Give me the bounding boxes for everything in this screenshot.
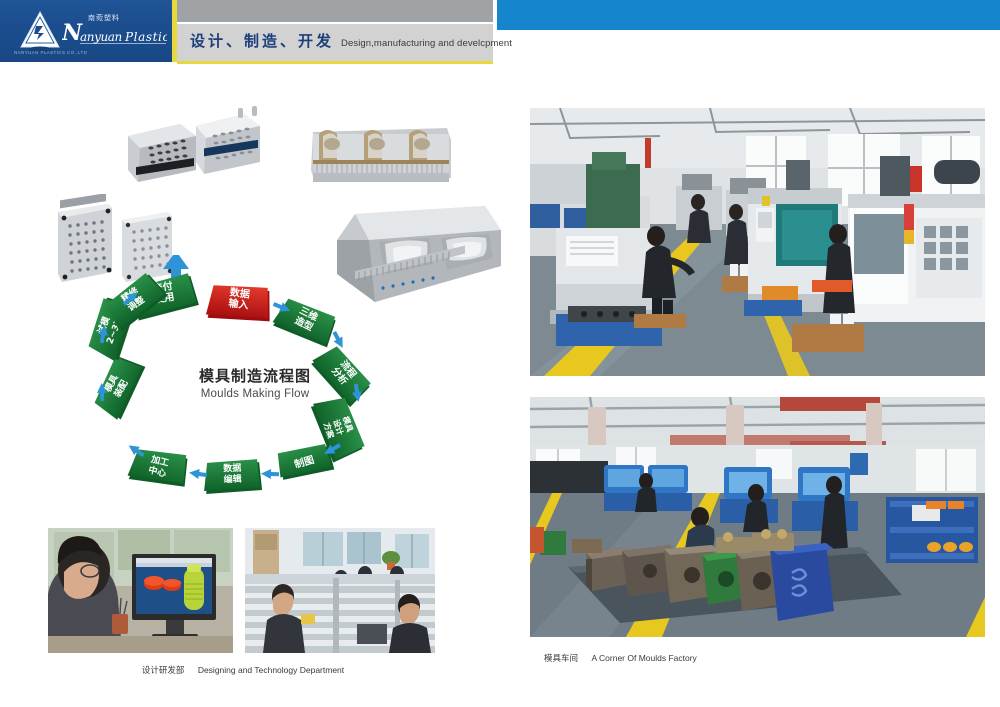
caption-design-department: 设计研发部 Designing and Technology Departmen… — [48, 660, 438, 678]
company-logo-block[interactable]: N anyuan Plastics 南菀塑料 NANYUAN PLASTICS … — [0, 0, 172, 62]
caption-factory-en: A Corner Of Moulds Factory — [591, 653, 696, 663]
photo-engineer-at-cad-workstation — [48, 528, 233, 653]
caption-moulds-factory: 模具车间 A Corner Of Moulds Factory — [544, 648, 697, 666]
product-photo-three-cavity-mould-block — [305, 120, 455, 192]
moulds-making-flow-diagram: 交付 使用 数据 输入 三维 造型 流程 分析 — [75, 255, 435, 515]
header-yellow-underline — [177, 61, 493, 64]
flow-center-title: 模具制造流程图 Moulds Making Flow — [75, 365, 435, 400]
svg-text:数据: 数据 — [223, 462, 241, 475]
flow-node-drafting[interactable]: 制图 — [274, 440, 334, 485]
caption-design-en: Designing and Technology Department — [198, 665, 344, 675]
flow-node-3d-modeling[interactable]: 三维 造型 — [271, 293, 340, 351]
header-gray-top-band — [177, 0, 493, 22]
page-header: N anyuan Plastics 南菀塑料 NANYUAN PLASTICS … — [0, 0, 1000, 62]
brand-name-cn: 南菀塑料 — [88, 13, 120, 23]
brand-subtext: NANYUAN PLASTICS CO.,LTD — [14, 50, 87, 55]
header-blue-band — [497, 0, 1000, 30]
brochure-page: N anyuan Plastics 南菀塑料 NANYUAN PLASTICS … — [0, 0, 1000, 707]
svg-text:Plastics: Plastics — [124, 30, 167, 44]
photo-design-office-cubicles — [245, 528, 435, 653]
caption-design-cn: 设计研发部 — [142, 666, 185, 676]
product-photo-multi-cavity-mould-plates — [118, 96, 266, 196]
photo-cnc-machining-workshop — [530, 108, 985, 376]
page-bottom-margin — [0, 701, 1000, 707]
caption-factory-cn: 模具车间 — [544, 654, 578, 664]
flow-title-en: Moulds Making Flow — [75, 388, 435, 400]
section-title-en: Design,manufacturing and develcpment — [341, 38, 512, 49]
photo-mould-assembly-workshop — [530, 397, 985, 637]
section-title-cn: 设计、制造、开发 — [190, 30, 334, 51]
svg-text:编辑: 编辑 — [223, 473, 241, 486]
flow-title-cn: 模具制造流程图 — [75, 365, 435, 386]
section-title: 设计、制造、开发 Design,manufacturing and develc… — [190, 30, 512, 51]
flow-node-data-input[interactable]: 数据 输入 — [206, 281, 274, 326]
flow-node-data-editing[interactable]: 数据 编辑 — [203, 459, 262, 494]
svg-text:anyuan: anyuan — [80, 30, 122, 44]
triangle-emblem-icon — [18, 9, 62, 53]
